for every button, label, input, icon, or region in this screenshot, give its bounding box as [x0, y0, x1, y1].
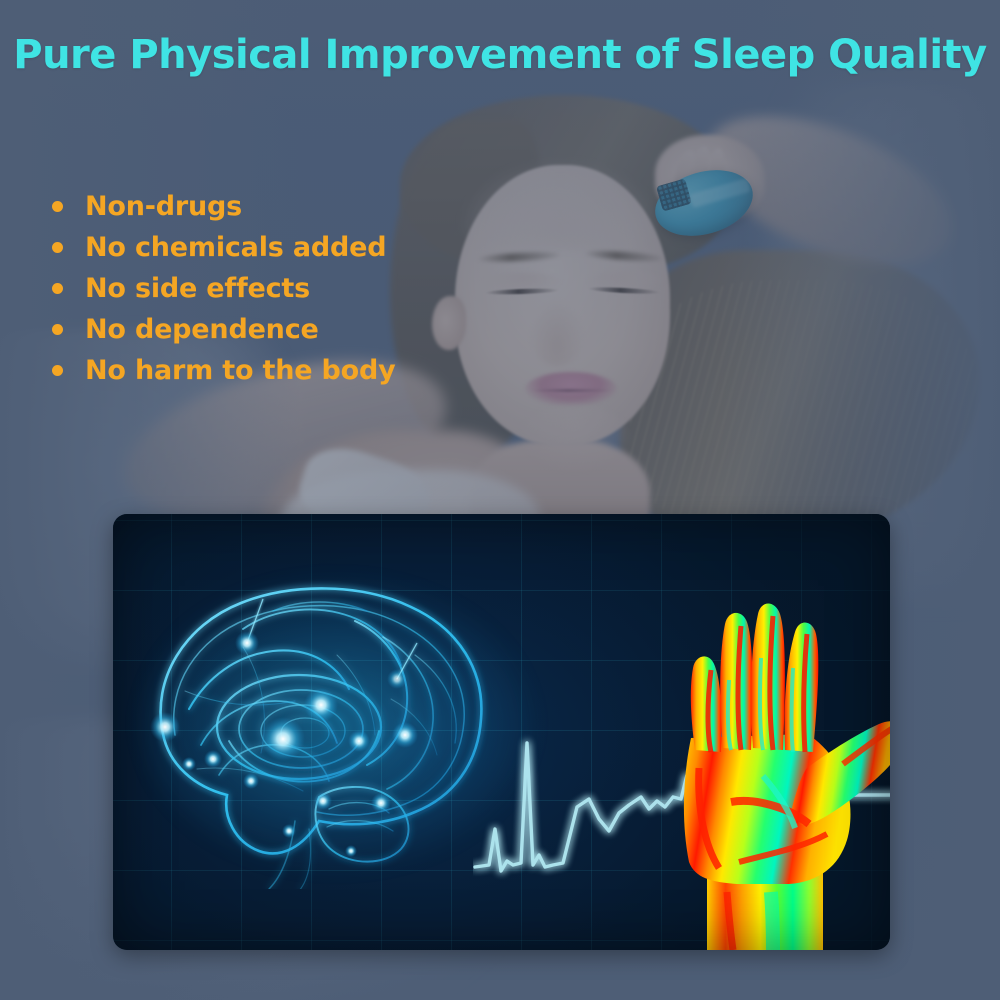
bullet-dot-icon [52, 201, 63, 212]
bullet-dot-icon [52, 242, 63, 253]
benefit-item: No chemicals added [52, 227, 522, 268]
benefit-label: No harm to the body [85, 355, 396, 386]
tech-illustration-panel [113, 514, 890, 950]
benefit-label: No dependence [85, 314, 319, 345]
benefit-label: No side effects [85, 273, 310, 304]
benefit-label: Non-drugs [85, 191, 242, 222]
benefit-item: Non-drugs [52, 186, 522, 227]
bullet-dot-icon [52, 365, 63, 376]
poster-canvas: Pure Physical Improvement of Sleep Quali… [0, 0, 1000, 1000]
benefit-item: No side effects [52, 268, 522, 309]
benefits-list: Non-drugs No chemicals added No side eff… [52, 186, 522, 391]
bullet-dot-icon [52, 324, 63, 335]
benefit-label: No chemicals added [85, 232, 386, 263]
benefit-item: No dependence [52, 309, 522, 350]
bullet-dot-icon [52, 283, 63, 294]
page-title: Pure Physical Improvement of Sleep Quali… [0, 34, 1000, 76]
thermal-hand-icon [611, 562, 890, 950]
benefit-item: No harm to the body [52, 350, 522, 391]
